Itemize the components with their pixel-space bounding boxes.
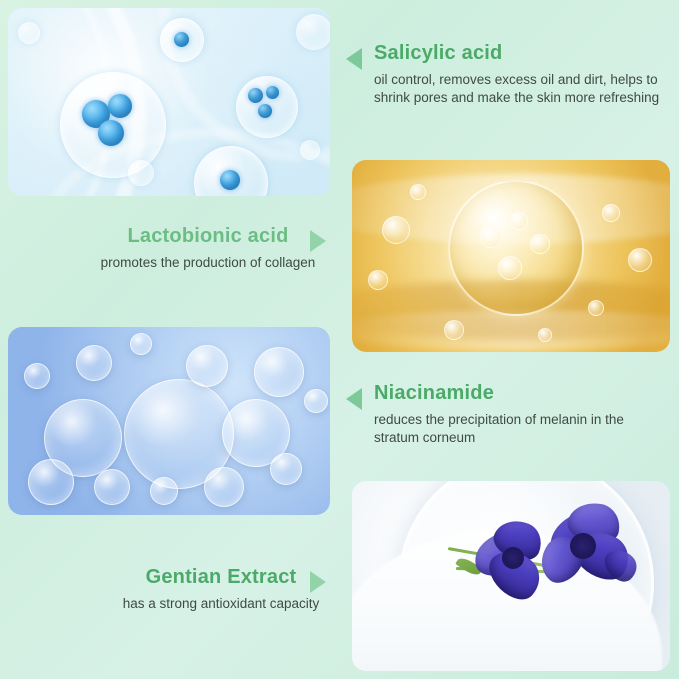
small-bubble: [186, 345, 228, 387]
flower-center: [502, 547, 524, 569]
ingredient-label-niacinamide: Niacinamide: [374, 382, 664, 405]
floating-bubble: [410, 184, 426, 200]
small-bubble: [76, 345, 112, 381]
oil-sphere: [448, 180, 584, 316]
ingredient-label-salicylic-acid: Salicylic acid: [374, 42, 664, 65]
small-bubble: [18, 22, 40, 44]
small-bubble: [270, 453, 302, 485]
arrow-left-icon-niacinamide: [346, 388, 362, 410]
golden-oil-sphere-image: [352, 160, 670, 352]
small-bubble: [28, 459, 74, 505]
floating-bubble: [538, 328, 552, 342]
floating-bubble: [382, 216, 410, 244]
ingredient-description-lactobionic-acid: promotes the production of collagen: [90, 254, 326, 272]
floating-bubble: [628, 248, 652, 272]
ingredient-description-salicylic-acid: oil control, removes excess oil and dirt…: [374, 71, 664, 107]
small-bubble: [150, 477, 178, 505]
blue-core-droplet: [258, 104, 272, 118]
small-bubble: [130, 333, 152, 355]
flower-center: [570, 533, 596, 559]
ingredient-label-gentian-extract: Gentian Extract: [110, 566, 332, 589]
floating-bubble: [588, 300, 604, 316]
small-bubble: [94, 469, 130, 505]
oil-streak: [352, 310, 670, 350]
ingredient-text-gentian-extract: Gentian Extract has a strong antioxidant…: [110, 566, 332, 613]
ingredient-text-salicylic-acid: Salicylic acid oil control, removes exce…: [374, 42, 664, 107]
small-bubble: [296, 14, 330, 50]
small-bubble: [24, 363, 50, 389]
small-bubble: [300, 140, 320, 160]
blue-core-droplet: [98, 120, 124, 146]
small-bubble: [254, 347, 304, 397]
ingredient-text-niacinamide: Niacinamide reduces the precipitation of…: [374, 382, 664, 447]
blue-droplet-macro-image: [8, 8, 330, 196]
ingredient-text-lactobionic-acid: Lactobionic acid promotes the production…: [90, 225, 326, 272]
small-bubble: [128, 160, 154, 186]
blue-core-droplet: [248, 88, 263, 103]
inner-bubble: [510, 212, 528, 230]
blue-core-droplet: [174, 32, 189, 47]
blue-bubbles-image: [8, 327, 330, 515]
inner-bubble: [530, 234, 550, 254]
floating-bubble: [368, 270, 388, 290]
ingredient-infographic: Salicylic acid oil control, removes exce…: [0, 0, 679, 679]
small-bubble: [204, 467, 244, 507]
floating-bubble: [602, 204, 620, 222]
inner-bubble: [480, 226, 502, 248]
blue-core-droplet: [220, 170, 240, 190]
small-bubble: [304, 389, 328, 413]
inner-bubble: [498, 256, 522, 280]
blue-core-droplet: [266, 86, 279, 99]
arrow-left-icon-salicylic: [346, 48, 362, 70]
ingredient-description-niacinamide: reduces the precipitation of melanin in …: [374, 411, 664, 447]
floating-bubble: [444, 320, 464, 340]
ingredient-label-lactobionic-acid: Lactobionic acid: [90, 225, 326, 248]
ingredient-description-gentian-extract: has a strong antioxidant capacity: [110, 595, 332, 613]
blue-core-droplet: [108, 94, 132, 118]
gentian-flower-image: [352, 481, 670, 671]
